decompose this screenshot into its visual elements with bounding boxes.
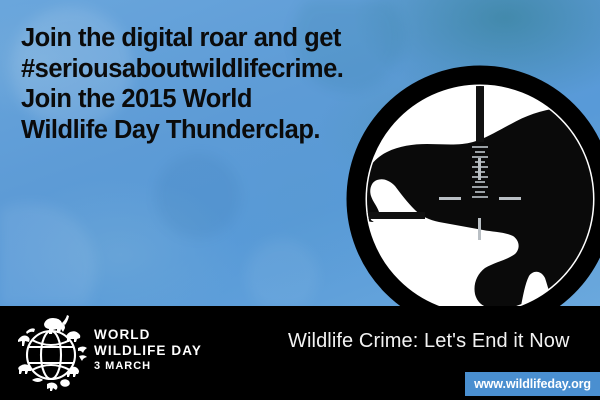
reticle-left-post xyxy=(363,212,425,219)
footer-tagline: Wildlife Crime: Let's End it Now xyxy=(288,330,570,353)
poster-canvas: Join the digital roar and get #seriousab… xyxy=(0,0,600,400)
headline-line-1: Join the digital roar and get xyxy=(21,23,373,54)
logo-line-wildlife-day: WILDLIFE DAY xyxy=(94,343,202,359)
logo-line-date: 3 MARCH xyxy=(94,359,202,374)
rifle-scope-graphic xyxy=(343,62,600,336)
website-url-button[interactable]: www.wildlifeday.org xyxy=(465,372,600,396)
headline: Join the digital roar and get #seriousab… xyxy=(21,23,373,145)
logo-line-world: WORLD xyxy=(94,327,202,343)
headline-line-3: Join the 2015 World xyxy=(21,84,373,115)
world-wildlife-day-globe-logo xyxy=(12,310,90,396)
reticle-top-post xyxy=(476,80,484,142)
headline-line-4: Wildlife Day Thunderclap. xyxy=(21,115,373,146)
logo-wordmark: WORLD WILDLIFE DAY 3 MARCH xyxy=(94,327,202,374)
headline-line-2: #seriousaboutwildlifecrime. xyxy=(21,54,373,85)
